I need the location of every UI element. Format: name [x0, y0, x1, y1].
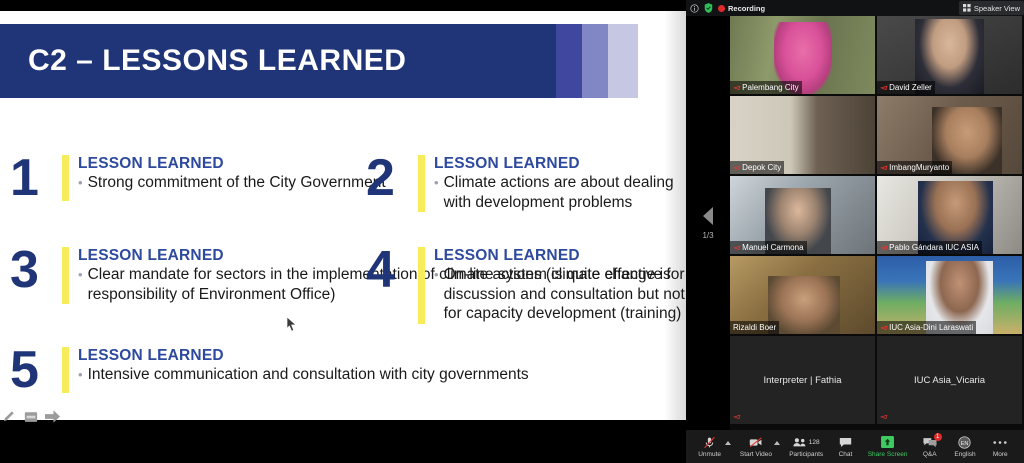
participant-tile[interactable]: ◅ IUC Asia-Dini Laraswati [877, 256, 1022, 334]
title-color-band-3 [608, 24, 638, 98]
presentation-slide: C2 – LESSONS LEARNED 1 LESSON LEARNED • … [0, 11, 686, 420]
lesson-heading: LESSON LEARNED [434, 247, 686, 264]
mic-muted-icon: ◅ [880, 243, 886, 252]
lessons-list: 1 LESSON LEARNED • Strong commitment of … [0, 107, 686, 407]
participant-tile[interactable]: ◅ Depok City [730, 96, 875, 174]
bullet-icon: • [78, 265, 88, 304]
participant-namebar: ◅ Palembang City [730, 81, 802, 94]
mic-muted-icon: ◅ [880, 412, 886, 421]
bullet-icon: • [78, 173, 88, 193]
participant-grid: ◅ Palembang City ◅ David Zeller ◅ Depok … [730, 16, 1024, 430]
speaker-view-button[interactable]: Speaker View [959, 1, 1024, 15]
participant-name: Manuel Carmona [742, 243, 803, 252]
participant-name: David Zeller [889, 83, 932, 92]
info-icon[interactable] [690, 4, 699, 13]
mic-muted-icon: ◅ [880, 323, 886, 332]
svg-text:EN: EN [961, 440, 969, 446]
participant-tile[interactable]: ◅ Pablo Gándara IUC ASIA [877, 176, 1022, 254]
chat-label: Chat [839, 451, 853, 458]
share-screen-label: Share Screen [868, 451, 908, 458]
pencil-icon[interactable] [2, 409, 17, 424]
start-video-group[interactable]: Start Video [740, 436, 780, 458]
start-video-label: Start Video [740, 451, 772, 458]
zoom-right-panel: Recording Speaker View 1/3 ◅ Palembang C… [686, 0, 1024, 463]
participants-label: Participants [789, 451, 823, 458]
participant-namebar: ◅ Pablo Gándara IUC ASIA [877, 241, 982, 254]
mic-muted-icon: ◅ [880, 163, 886, 172]
slide-title-bar: C2 – LESSONS LEARNED [0, 24, 556, 98]
camera-muted-icon [749, 436, 763, 449]
mic-muted-icon: ◅ [733, 243, 739, 252]
speaker-view-label: Speaker View [974, 4, 1020, 13]
lesson-number: 2 [366, 155, 418, 201]
participant-name: Depok City [742, 163, 781, 172]
gallery-collapse-strip[interactable]: 1/3 [686, 16, 730, 430]
page-title: C2 – LESSONS LEARNED [0, 44, 406, 78]
language-label: English [954, 451, 975, 458]
note-icon[interactable] [24, 411, 38, 423]
lesson-accent-bar [62, 155, 69, 201]
lesson-item-4: 4 LESSON LEARNED • On-line system is qui… [366, 247, 686, 324]
unmute-label: Unmute [698, 451, 721, 458]
chevron-up-icon-video[interactable] [774, 441, 780, 445]
lesson-item-5: 5 LESSON LEARNED • Intensive communicati… [10, 347, 529, 393]
annotation-toolbar[interactable] [2, 409, 60, 424]
arrow-icon[interactable] [45, 410, 60, 423]
participants-button[interactable]: 128 Participants [789, 436, 823, 458]
bullet-icon: • [78, 365, 88, 385]
participant-tile[interactable]: ◅ ImbangMuryanto [877, 96, 1022, 174]
participant-name: IUC Asia_Vicaria [877, 336, 1022, 424]
lesson-accent-bar [62, 347, 69, 393]
gallery-page-indicator: 1/3 [702, 231, 713, 240]
participant-namebar: ◅ IUC Asia-Dini Laraswati [877, 321, 976, 334]
participant-namebar: ◅ David Zeller [877, 81, 935, 94]
participant-tile-video-off[interactable]: IUC Asia_Vicaria ◅ [877, 336, 1022, 424]
lesson-accent-bar [418, 247, 425, 324]
start-video-button[interactable]: Start Video [740, 436, 772, 458]
lesson-item-1: 1 LESSON LEARNED • Strong commitment of … [10, 155, 386, 201]
participant-namebar: ◅ ImbangMuryanto [877, 161, 952, 174]
participant-namebar: Rizaldi Boer [730, 321, 779, 334]
unmute-group[interactable]: Unmute [697, 436, 731, 458]
share-screen-icon [881, 436, 894, 449]
participant-tile[interactable]: ◅ Palembang City [730, 16, 875, 94]
participant-tile[interactable]: ◅ Manuel Carmona [730, 176, 875, 254]
language-globe-icon: EN [958, 436, 971, 449]
meeting-topbar: Recording Speaker View [686, 0, 1024, 16]
lesson-text: Strong commitment of the City Government [88, 173, 386, 193]
share-screen-button[interactable]: Share Screen [868, 436, 908, 458]
zoom-meeting-screen: C2 – LESSONS LEARNED 1 LESSON LEARNED • … [0, 0, 1024, 463]
participant-tile-active-speaker[interactable]: Rizaldi Boer [730, 256, 875, 334]
chevron-up-icon-audio[interactable] [725, 441, 731, 445]
title-color-band-1 [556, 24, 582, 98]
recording-label: Recording [728, 4, 765, 13]
participant-name: Pablo Gándara IUC ASIA [889, 243, 979, 252]
more-dots-icon [993, 436, 1007, 449]
qa-button[interactable]: 1 Q&A [917, 436, 943, 458]
participant-tile[interactable]: ◅ David Zeller [877, 16, 1022, 94]
shield-icon[interactable] [704, 3, 713, 13]
lesson-number: 4 [366, 247, 418, 293]
chat-icon [839, 436, 852, 449]
bullet-icon: • [434, 173, 444, 212]
lesson-accent-bar [418, 155, 425, 212]
mouse-cursor [286, 317, 298, 338]
mic-muted-icon: ◅ [733, 412, 739, 421]
mic-muted-icon: ◅ [880, 83, 886, 92]
qa-badge: 1 [934, 433, 942, 441]
lesson-number: 1 [10, 155, 62, 201]
microphone-muted-icon [703, 436, 716, 449]
participants-count: 128 [809, 439, 820, 446]
lesson-number: 3 [10, 247, 62, 293]
more-button[interactable]: More [987, 436, 1013, 458]
lesson-item-2: 2 LESSON LEARNED • Climate actions are a… [366, 155, 686, 212]
qa-icon: 1 [923, 436, 937, 449]
participant-namebar: ◅ Depok City [730, 161, 784, 174]
lesson-heading: LESSON LEARNED [434, 155, 686, 172]
more-label: More [993, 451, 1008, 458]
unmute-button[interactable]: Unmute [697, 436, 723, 458]
lesson-accent-bar [62, 247, 69, 304]
mic-muted-icon: ◅ [733, 83, 739, 92]
participants-icon: 128 [793, 436, 820, 449]
mic-muted-icon: ◅ [733, 163, 739, 172]
participant-tile-video-off[interactable]: Interpreter | Fathia ◅ [730, 336, 875, 424]
grid-icon [963, 0, 971, 17]
language-button[interactable]: EN English [952, 436, 978, 458]
qa-label: Q&A [923, 451, 937, 458]
title-color-band-2 [582, 24, 608, 98]
lesson-heading: LESSON LEARNED [78, 155, 386, 172]
shared-screen-region: C2 – LESSONS LEARNED 1 LESSON LEARNED • … [0, 0, 686, 463]
participant-name: IUC Asia-Dini Laraswati [889, 323, 973, 332]
participant-name: ImbangMuryanto [889, 163, 949, 172]
lesson-heading: LESSON LEARNED [78, 347, 529, 364]
lesson-text: Intensive communication and consultation… [88, 365, 529, 385]
recording-indicator-dot [718, 5, 725, 12]
chat-button[interactable]: Chat [832, 436, 858, 458]
participant-namebar: ◅ Manuel Carmona [730, 241, 807, 254]
meeting-toolbar: Unmute Start Video 128 Participan [686, 430, 1024, 463]
chevron-left-icon[interactable] [703, 207, 713, 225]
lesson-number: 5 [10, 347, 62, 393]
participant-name: Interpreter | Fathia [730, 336, 875, 424]
participant-name: Palembang City [742, 83, 798, 92]
lesson-text: On-line system is quite effective for di… [444, 265, 686, 324]
lesson-text: Climate actions are about dealing with d… [444, 173, 686, 212]
bullet-icon: • [434, 265, 444, 324]
participant-name: Rizaldi Boer [733, 323, 776, 332]
